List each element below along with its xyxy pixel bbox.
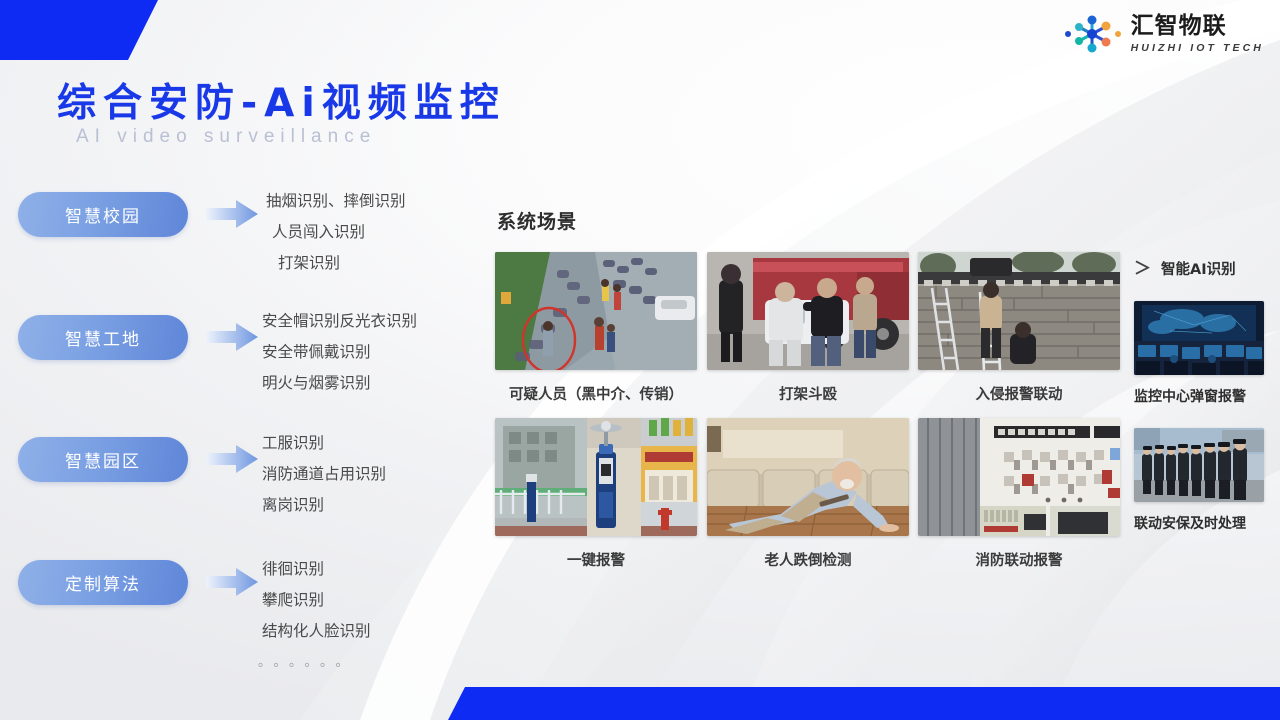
feature-item: 打架识别 <box>266 248 476 279</box>
ellipsis-dots: 。。。。。。 <box>258 651 358 670</box>
capability-row: 定制算法 徘徊识别 攀爬识别 结构化人脸识别 。。。。。。 <box>0 546 470 676</box>
logo-company-name-en: HUIZHI IOT TECH <box>1131 43 1264 54</box>
scene-thumbnail-fall-detection[interactable] <box>707 418 909 536</box>
feature-item: 离岗识别 <box>262 490 472 521</box>
ai-recognition-heading: ＞ 智能AI识别 <box>1134 258 1266 279</box>
logo-company-name-cn: 汇智物联 <box>1131 15 1264 38</box>
sidebar-item-custom-algorithm[interactable]: 定制算法 <box>18 560 188 605</box>
scene-caption: 入侵报警联动 <box>918 383 1120 404</box>
feature-item: 结构化人脸识别 <box>262 616 472 647</box>
scene-thumbnail-one-key-alarm[interactable] <box>495 418 697 536</box>
scene-caption: 老人跌倒检测 <box>707 549 909 570</box>
scene-thumbnail-suspicious-persons[interactable] <box>495 252 697 370</box>
feature-item: 安全帽识别反光衣识别 <box>262 306 472 337</box>
scene-caption: 消防联动报警 <box>918 549 1120 570</box>
brand-logo: 汇智物联 HUIZHI IOT TECH <box>1064 14 1264 54</box>
ai-recognition-label: 智能AI识别 <box>1161 258 1236 279</box>
arrow-right-icon <box>206 322 258 352</box>
scene-thumbnail-intrusion[interactable] <box>918 252 1120 370</box>
scene-card[interactable]: 老人跌倒检测 <box>707 418 909 570</box>
feature-item: 工服识别 <box>262 428 472 459</box>
pill-label: 定制算法 <box>65 570 141 595</box>
feature-list: 工服识别 消防通道占用识别 离岗识别 <box>262 428 472 521</box>
feature-item: 消防通道占用识别 <box>262 459 472 490</box>
capability-row: 智慧工地 安全帽识别反光衣识别 安全带佩戴识别 明火与烟雾识别 <box>0 301 470 423</box>
ai-scene-caption: 监控中心弹窗报警 <box>1134 386 1266 406</box>
chevron-right-icon: ＞ <box>1134 260 1151 277</box>
capability-row: 智慧校园 抽烟识别、摔倒识别 人员闯入识别 打架识别 <box>0 178 470 301</box>
scene-caption: 打架斗殴 <box>707 383 909 404</box>
scene-thumbnail-fight[interactable] <box>707 252 909 370</box>
feature-item: 安全带佩戴识别 <box>262 337 472 368</box>
arrow-right-icon <box>206 444 258 474</box>
scenes-section-title: 系统场景 <box>497 207 577 234</box>
scene-thumbnail-security-guards[interactable] <box>1134 428 1264 502</box>
feature-list: 抽烟识别、摔倒识别 人员闯入识别 打架识别 <box>266 186 476 279</box>
pill-label: 智慧校园 <box>65 202 141 227</box>
scene-caption: 可疑人员（黑中介、传销） <box>495 383 697 404</box>
feature-item: 抽烟识别、摔倒识别 <box>266 186 476 217</box>
feature-item: 徘徊识别 <box>262 554 472 585</box>
ai-scene-card[interactable]: 监控中心弹窗报警 <box>1134 301 1266 406</box>
sidebar-item-smart-park[interactable]: 智慧园区 <box>18 437 188 482</box>
scene-card[interactable]: 入侵报警联动 <box>918 252 1120 404</box>
scene-card[interactable]: 打架斗殴 <box>707 252 909 404</box>
feature-item: 明火与烟雾识别 <box>262 368 472 399</box>
scene-card[interactable]: 消防联动报警 <box>918 418 1120 570</box>
top-left-accent-shape <box>0 0 158 60</box>
slide-canvas: 综合安防-Ai视频监控 AI video surveillance 汇智物联 H… <box>0 0 1280 720</box>
scene-caption: 一键报警 <box>495 549 697 570</box>
page-title: 综合安防-Ai视频监控 <box>57 72 506 128</box>
arrow-right-icon <box>206 567 258 597</box>
scene-thumbnail-control-room[interactable] <box>1134 301 1264 375</box>
sidebar-item-smart-construction[interactable]: 智慧工地 <box>18 315 188 360</box>
bottom-accent-bar <box>448 687 1280 720</box>
feature-item: 人员闯入识别 <box>266 217 476 248</box>
ai-scene-caption: 联动安保及时处理 <box>1134 513 1266 533</box>
feature-item: 攀爬识别 <box>262 585 472 616</box>
molecule-network-icon <box>1064 14 1122 54</box>
arrow-right-icon <box>206 199 258 229</box>
feature-list: 安全帽识别反光衣识别 安全带佩戴识别 明火与烟雾识别 <box>262 306 472 399</box>
scene-card[interactable]: 一键报警 <box>495 418 697 570</box>
ai-recognition-column: ＞ 智能AI识别 <box>1134 258 1266 555</box>
scene-card[interactable]: 可疑人员（黑中介、传销） <box>495 252 697 404</box>
scene-thumbnail-fire-alarm-panel[interactable] <box>918 418 1120 536</box>
capability-list: 智慧校园 抽烟识别、摔倒识别 人员闯入识别 打架识别 智慧工地 <box>0 178 470 676</box>
pill-label: 智慧工地 <box>65 325 141 350</box>
sidebar-item-smart-campus[interactable]: 智慧校园 <box>18 192 188 237</box>
ai-scene-card[interactable]: 联动安保及时处理 <box>1134 428 1266 533</box>
capability-row: 智慧园区 工服识别 消防通道占用识别 离岗识别 <box>0 423 470 546</box>
pill-label: 智慧园区 <box>65 447 141 472</box>
feature-list: 徘徊识别 攀爬识别 结构化人脸识别 <box>262 554 472 647</box>
page-subtitle: AI video surveillance <box>76 126 376 148</box>
